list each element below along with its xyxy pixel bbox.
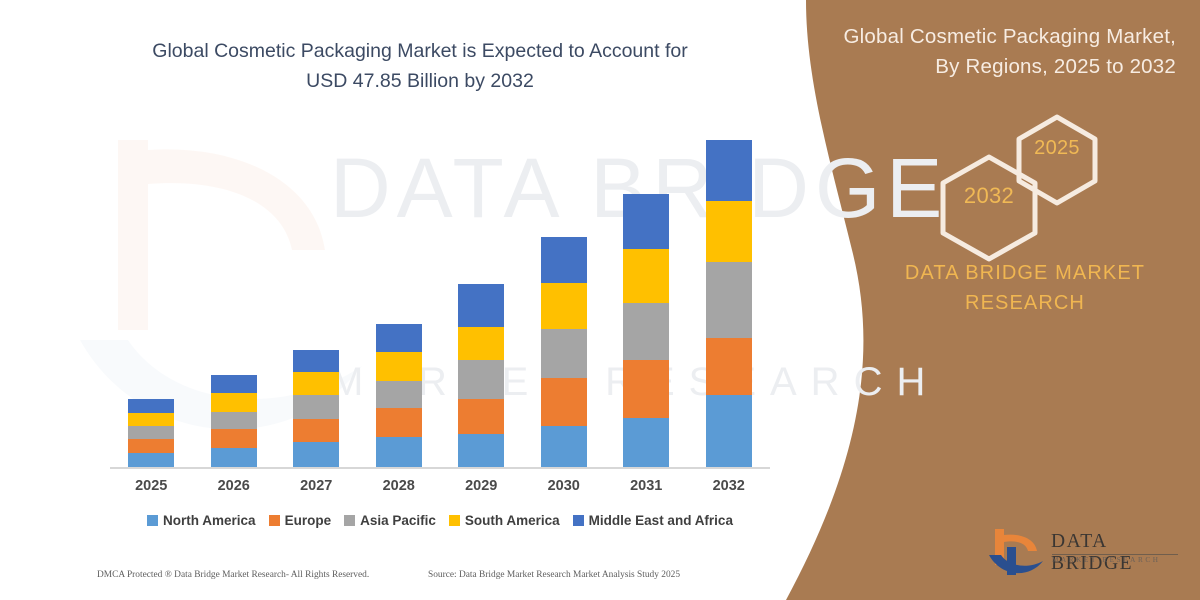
- bar-column-2031: [623, 194, 669, 467]
- legend-swatch-icon: [147, 515, 158, 526]
- bar-segment: [706, 338, 752, 395]
- bar-segment: [623, 249, 669, 303]
- bar-segment: [293, 442, 339, 467]
- bar-segment: [293, 419, 339, 443]
- bar-segment: [293, 372, 339, 395]
- data-bridge-logo: DATA BRIDGE MARKET RESEARCH: [985, 525, 1185, 587]
- logo-name: DATA BRIDGE: [1051, 531, 1185, 575]
- bar-segment: [128, 453, 174, 467]
- logo-tagline: MARKET RESEARCH: [1052, 556, 1161, 564]
- bar-segment: [458, 284, 504, 327]
- bar-segment: [706, 262, 752, 338]
- legend-label: North America: [163, 513, 256, 528]
- legend-item-middle-east-and-africa[interactable]: Middle East and Africa: [573, 513, 733, 528]
- bar-segment: [623, 360, 669, 417]
- bar-column-2032: [706, 140, 752, 467]
- bar-segment: [458, 360, 504, 399]
- brand-name-line2: RESEARCH: [860, 288, 1190, 318]
- chart-legend: North AmericaEuropeAsia PacificSouth Ame…: [110, 513, 770, 528]
- legend-item-south-america[interactable]: South America: [449, 513, 560, 528]
- x-axis-label-2029: 2029: [441, 478, 521, 494]
- bar-segment: [541, 329, 587, 378]
- legend-swatch-icon: [344, 515, 355, 526]
- bar-segment: [211, 393, 257, 411]
- bar-segment: [458, 399, 504, 435]
- legend-label: Asia Pacific: [360, 513, 436, 528]
- bar-segment: [541, 426, 587, 467]
- bar-segment: [541, 237, 587, 283]
- panel-title-line2: By Regions, 2025 to 2032: [806, 52, 1176, 82]
- bar-segment: [706, 140, 752, 201]
- bar-segment: [623, 303, 669, 360]
- bar-column-2025: [128, 399, 174, 467]
- legend-label: Europe: [285, 513, 332, 528]
- panel-title: Global Cosmetic Packaging Market, By Reg…: [806, 22, 1176, 82]
- bar-segment: [128, 439, 174, 453]
- bar-segment: [128, 399, 174, 413]
- legend-label: South America: [465, 513, 560, 528]
- bar-segment: [376, 408, 422, 437]
- bar-segment: [623, 194, 669, 249]
- bar-column-2026: [211, 375, 257, 467]
- bar-segment: [706, 201, 752, 262]
- bar-segment: [376, 381, 422, 408]
- legend-label: Middle East and Africa: [589, 513, 733, 528]
- bar-segment: [706, 395, 752, 467]
- x-axis-label-2027: 2027: [276, 478, 356, 494]
- bar-segment: [293, 350, 339, 373]
- bar-segment: [211, 429, 257, 447]
- bar-segment: [128, 413, 174, 426]
- bar-column-2028: [376, 324, 422, 468]
- hexagon-outline-icon: [1012, 113, 1102, 207]
- bar-segment: [541, 378, 587, 426]
- bar-segment: [211, 375, 257, 393]
- x-axis-label-2025: 2025: [111, 478, 191, 494]
- bar-segment: [458, 327, 504, 360]
- infographic-root: Global Cosmetic Packaging Market, By Reg…: [0, 0, 1200, 600]
- x-axis-label-2028: 2028: [359, 478, 439, 494]
- bar-segment: [376, 437, 422, 467]
- bar-segment: [458, 434, 504, 467]
- bar-segment: [541, 283, 587, 329]
- legend-item-asia-pacific[interactable]: Asia Pacific: [344, 513, 436, 528]
- bar-segment: [293, 395, 339, 418]
- bar-segment: [128, 426, 174, 439]
- bar-column-2027: [293, 349, 339, 467]
- brand-name: DATA BRIDGE MARKET RESEARCH: [860, 258, 1190, 318]
- footer-source: Source: Data Bridge Market Research Mark…: [428, 570, 680, 580]
- chart-plot-area: 20252026202720282029203020312032: [0, 0, 790, 600]
- legend-swatch-icon: [573, 515, 584, 526]
- x-axis-label-2032: 2032: [689, 478, 769, 494]
- footer-dmca: DMCA Protected ® Data Bridge Market Rese…: [97, 570, 369, 580]
- panel-title-line1: Global Cosmetic Packaging Market,: [806, 22, 1176, 52]
- bar-segment: [211, 448, 257, 467]
- hexagon-2025-label: 2025: [1012, 137, 1102, 160]
- bar-segment: [211, 412, 257, 430]
- bar-segment: [623, 418, 669, 467]
- data-bridge-mark-icon: [985, 525, 1047, 583]
- legend-item-north-america[interactable]: North America: [147, 513, 256, 528]
- brand-name-line1: DATA BRIDGE MARKET: [860, 258, 1190, 288]
- bar-column-2029: [458, 284, 504, 467]
- x-axis-labels: 20252026202720282029203020312032: [110, 478, 770, 500]
- legend-swatch-icon: [449, 515, 460, 526]
- hexagon-2025: 2025: [1012, 113, 1102, 212]
- bar-segment: [376, 324, 422, 353]
- legend-swatch-icon: [269, 515, 280, 526]
- bar-column-2030: [541, 237, 587, 467]
- legend-item-europe[interactable]: Europe: [269, 513, 332, 528]
- x-axis-line: [110, 467, 770, 469]
- x-axis-label-2031: 2031: [606, 478, 686, 494]
- bar-segment: [376, 352, 422, 381]
- x-axis-label-2026: 2026: [194, 478, 274, 494]
- x-axis-label-2030: 2030: [524, 478, 604, 494]
- stacked-bars: [110, 140, 770, 467]
